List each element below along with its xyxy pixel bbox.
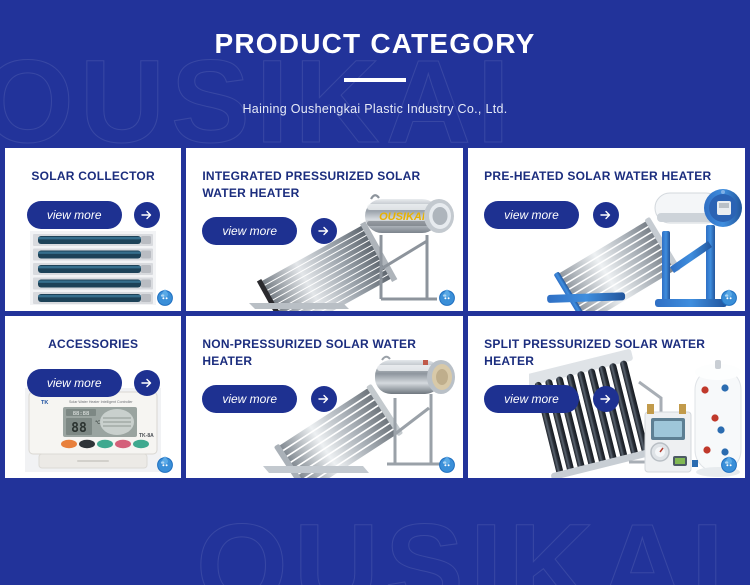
arrow-right-icon[interactable]: [593, 202, 619, 228]
view-more-button[interactable]: view more: [484, 385, 579, 413]
card-header: SOLAR COLLECTOR view more: [13, 168, 173, 229]
category-row-1: SOLAR COLLECTOR view more: [0, 148, 750, 311]
company-subtitle: Haining Oushengkai Plastic Industry Co.,…: [0, 102, 750, 116]
card-header: NON-PRESSURIZED SOLAR WATER HEATER view …: [202, 336, 451, 413]
category-card-split-pressurized[interactable]: SPLIT PRESSURIZED SOLAR WATER HEATER vie…: [468, 316, 745, 478]
view-more-button[interactable]: view more: [202, 385, 297, 413]
category-card-integrated-pressurized[interactable]: INTEGRATED PRESSURIZED SOLAR WATER HEATE…: [186, 148, 463, 311]
product-image-controller-panel: TK Solar Water Heater Intelligent Contro…: [25, 388, 161, 472]
controller-display: 88: [71, 421, 87, 436]
card-title: NON-PRESSURIZED SOLAR WATER HEATER: [202, 336, 451, 369]
svg-text:TK: TK: [41, 400, 48, 406]
card-header: ACCESSORIES view more: [13, 336, 173, 397]
card-cta-row: view more: [202, 385, 451, 413]
arrow-right-icon[interactable]: [134, 202, 160, 228]
card-title: ACCESSORIES: [13, 336, 173, 353]
view-more-button[interactable]: view more: [27, 201, 122, 229]
svg-text:88:88: 88:88: [73, 411, 90, 417]
category-card-solar-collector[interactable]: SOLAR COLLECTOR view more: [5, 148, 181, 311]
category-grid: SOLAR COLLECTOR view more: [0, 148, 750, 478]
page-header: PRODUCT CATEGORY Haining Oushengkai Plas…: [0, 0, 750, 148]
card-title: SPLIT PRESSURIZED SOLAR WATER HEATER: [484, 336, 733, 369]
background-watermark-bottom: OUSIKAI: [196, 498, 730, 585]
svg-text:Solar Water Heater Intelligent: Solar Water Heater Intelligent Controlle…: [69, 400, 133, 404]
water-drop-badge-icon: [155, 454, 175, 474]
water-drop-badge-icon: [437, 454, 457, 474]
category-card-accessories[interactable]: ACCESSORIES view more TK Solar Water Hea…: [5, 316, 181, 478]
category-row-2: ACCESSORIES view more TK Solar Water Hea…: [0, 316, 750, 478]
water-drop-badge-icon: [719, 287, 739, 307]
card-cta-row: view more: [484, 385, 733, 413]
arrow-right-icon[interactable]: [134, 370, 160, 396]
card-title: PRE-HEATED SOLAR WATER HEATER: [484, 168, 733, 185]
card-cta-row: view more: [13, 201, 173, 229]
arrow-right-icon[interactable]: [311, 218, 337, 244]
page-title: PRODUCT CATEGORY: [0, 28, 750, 60]
view-more-button[interactable]: view more: [484, 201, 579, 229]
product-image-solar-collector: [30, 231, 156, 305]
view-more-button[interactable]: view more: [202, 217, 297, 245]
arrow-right-icon[interactable]: [593, 386, 619, 412]
card-cta-row: view more: [202, 217, 451, 245]
card-cta-row: view more: [484, 201, 733, 229]
water-drop-badge-icon: [437, 287, 457, 307]
water-drop-badge-icon: [155, 287, 175, 307]
water-drop-badge-icon: [719, 454, 739, 474]
card-header: SPLIT PRESSURIZED SOLAR WATER HEATER vie…: [484, 336, 733, 413]
card-header: INTEGRATED PRESSURIZED SOLAR WATER HEATE…: [202, 168, 451, 245]
title-divider: [344, 78, 406, 82]
card-cta-row: view more: [13, 369, 173, 397]
card-header: PRE-HEATED SOLAR WATER HEATER view more: [484, 168, 733, 229]
controller-model: TK-8A: [139, 433, 154, 439]
card-title: INTEGRATED PRESSURIZED SOLAR WATER HEATE…: [202, 168, 451, 201]
arrow-right-icon[interactable]: [311, 386, 337, 412]
card-title: SOLAR COLLECTOR: [13, 168, 173, 185]
category-card-non-pressurized[interactable]: NON-PRESSURIZED SOLAR WATER HEATER view …: [186, 316, 463, 478]
view-more-button[interactable]: view more: [27, 369, 122, 397]
category-card-pre-heated[interactable]: PRE-HEATED SOLAR WATER HEATER view more: [468, 148, 745, 311]
